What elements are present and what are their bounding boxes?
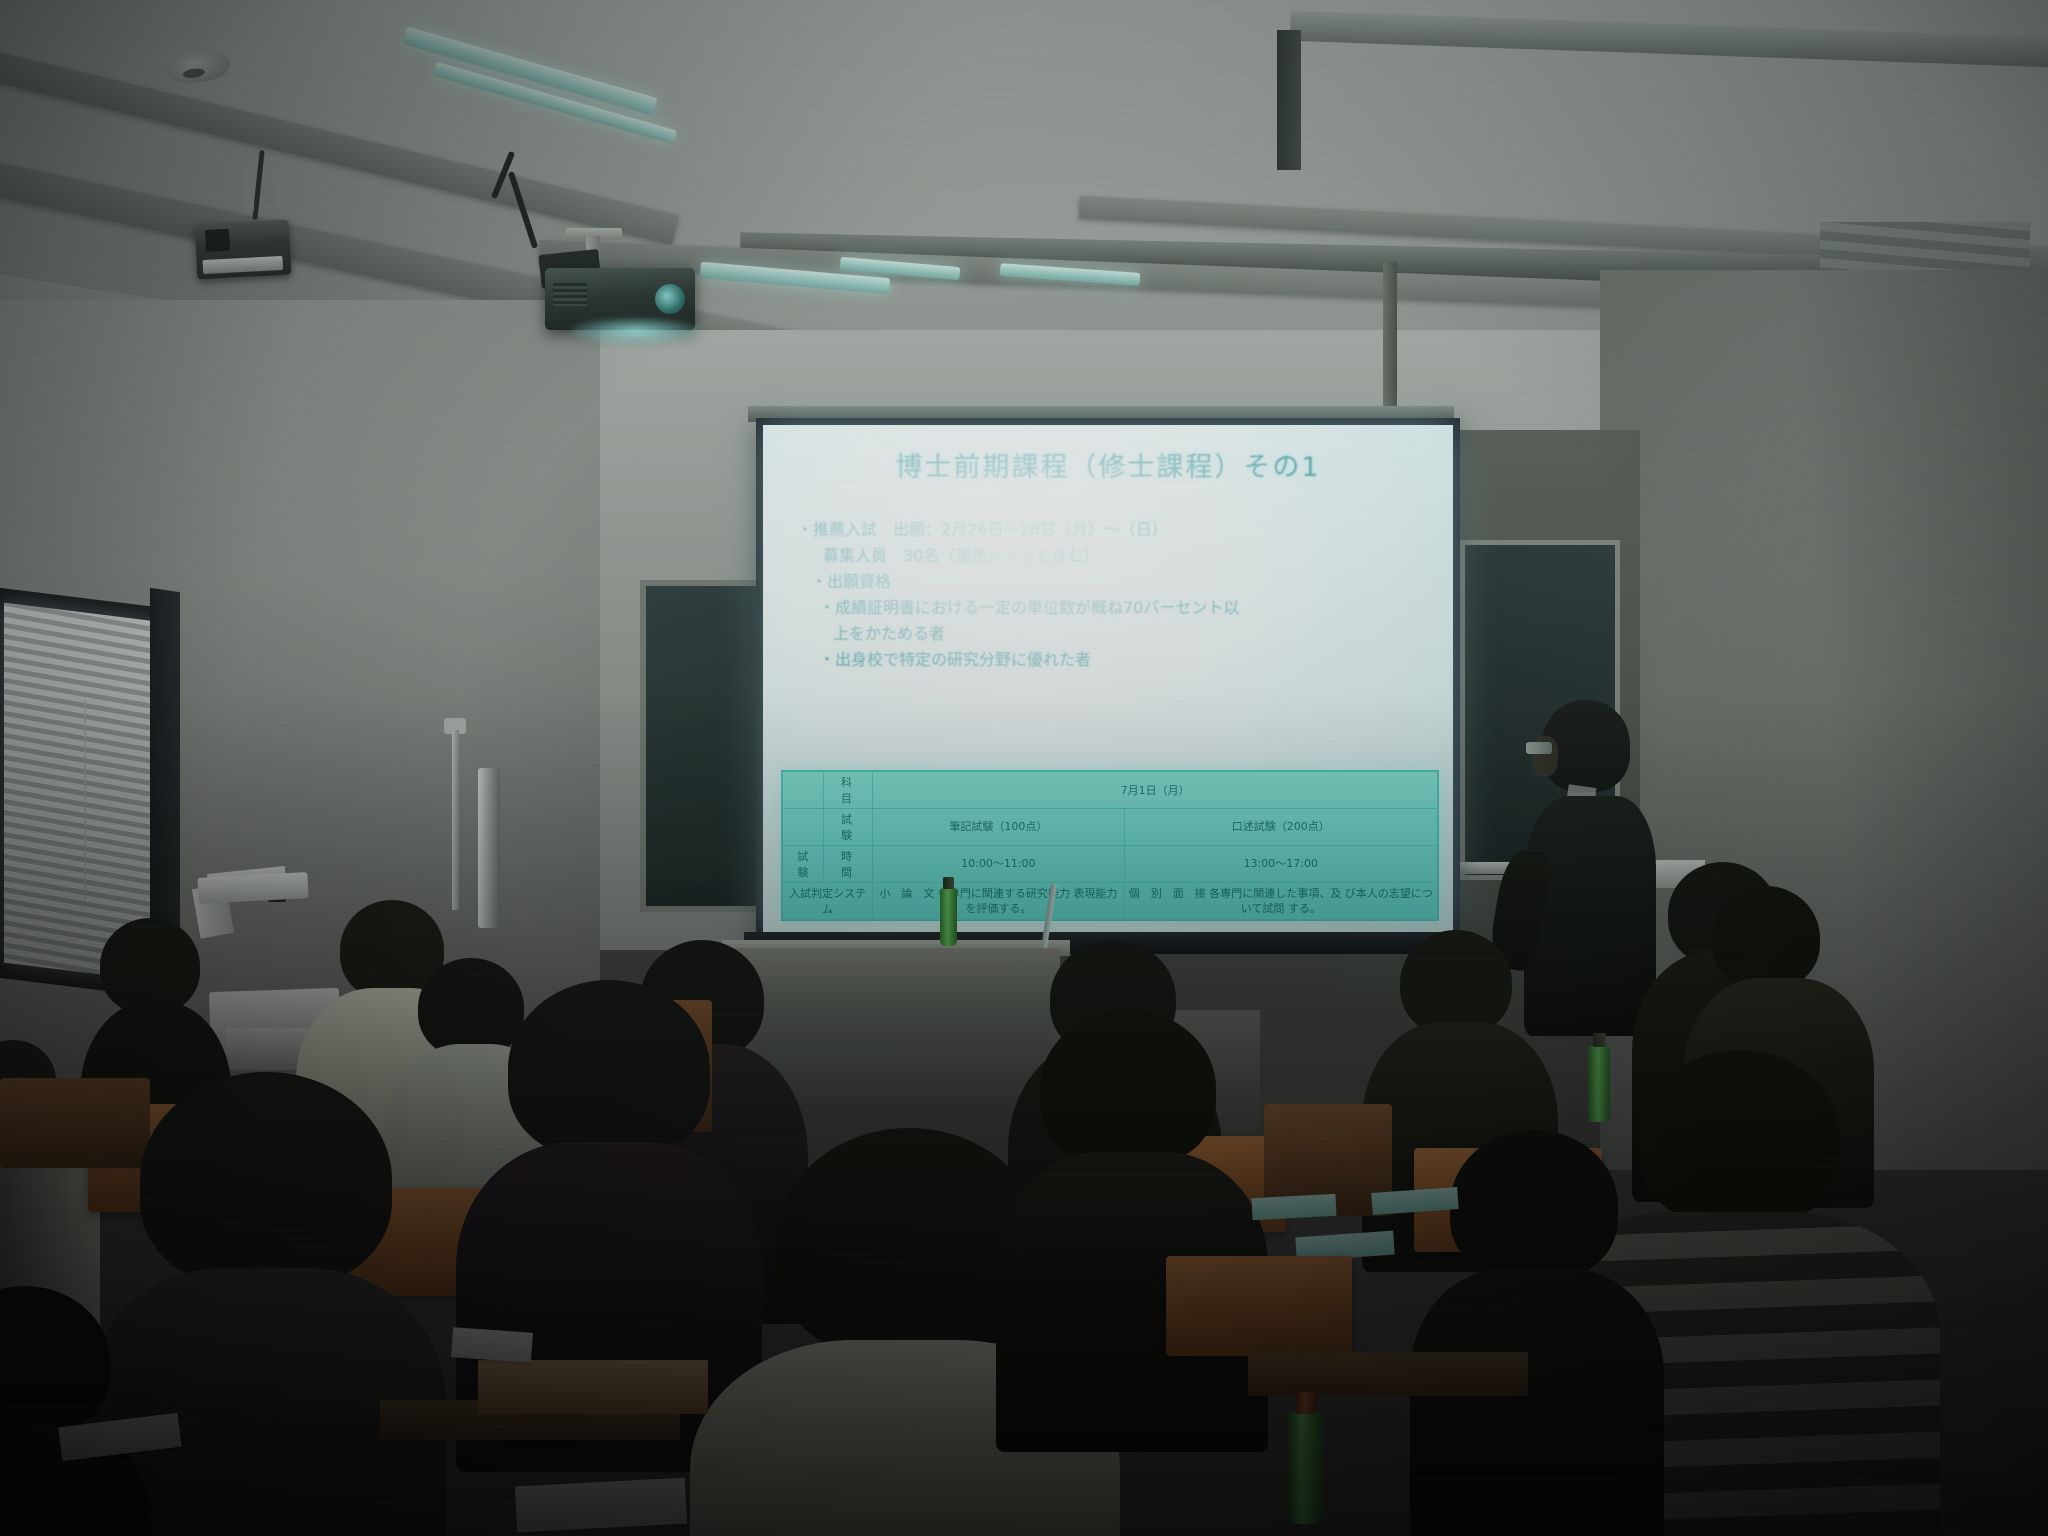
lecture-chair[interactable] [0,1078,150,1168]
projector-lens-icon [655,284,685,314]
slide-bullet-line: ・成績証明書における一定の単位数が概ね70パーセント以 [797,595,1431,621]
handout-paper[interactable] [451,1327,533,1363]
lecture-desk[interactable] [1248,1352,1528,1396]
slide-bullet-line: ・推薦入試 出願：2月26日～28日（月）～（日） [797,517,1431,543]
stand-pole [478,768,500,928]
drink-bottle[interactable] [940,888,957,946]
bottle-cap [943,877,954,889]
audience-head [1712,886,1820,990]
audience-head [1640,1050,1840,1226]
stand-pole [452,730,459,910]
table-cell-written-time: 10:00～11:00 [873,846,1124,883]
table-row-header: 試 験 [823,809,872,846]
table-cell-oral-time: 13:00～17:00 [1124,846,1437,883]
audience-head [418,958,524,1058]
table-row-header: 科 目 [823,772,872,809]
presenter-torso [1524,796,1656,1036]
table-date-note: 7月1日（月） [873,772,1438,809]
slide-bullet-line: 上をかためる者 [797,621,1431,647]
table-blank-cell [783,809,824,846]
slide-body: ・推薦入試 出願：2月26日～28日（月）～（日） 募集人員 30名（連携大学院… [797,517,1431,672]
audience-torso [1410,1268,1664,1536]
slide-bullet-line: 募集人員 30名（連携大学院を含む） [797,543,1431,569]
drink-bottle[interactable] [1588,1046,1610,1122]
projector-mount [245,155,254,210]
table-cell-essay-desc: 小 論 文 各専門に関連する研究能力 表現能力を評価する。 [873,883,1124,920]
slide-table: 科 目 7月1日（月） 試 験 筆記試験（100点） 口述試験（200点） 試 … [782,771,1438,920]
table-row: 試 験 筆記試験（100点） 口述試験（200点） [783,809,1438,846]
slide-bullet-line: ・出願資格 [797,569,1431,595]
table-cell-written-exam: 筆記試験（100点） [873,809,1124,846]
table-row-label-system: 入試判定システム [783,883,873,920]
audience-head [100,918,200,1014]
table-row-header: 時 間 [823,846,872,883]
slide-bullet-line: ・出身校で特定の研究分野に優れた者 [797,647,1431,673]
bottle-cap [1593,1033,1606,1047]
projection-screen: 博士前期課程（修士課程）その1 ・推薦入試 出願：2月26日～28日（月）～（日… [756,418,1460,942]
lecture-desk[interactable] [478,1360,708,1414]
handout-paper-teal[interactable] [1251,1194,1336,1220]
table-cell-interview-desc: 個 別 面 接 各専門に関連した事項、及 び本人の志望について試問 する。 [1124,883,1437,920]
table-row: 入試判定システム 小 論 文 各専門に関連する研究能力 表現能力を評価する。 個… [783,883,1438,920]
projector-mount [276,158,284,208]
table-row-label-exam: 試 験 [783,846,824,883]
table-row: 科 目 7月1日（月） [783,772,1438,809]
lecture-hall-photo: 博士前期課程（修士課程）その1 ・推薦入試 出願：2月26日～28日（月）～（日… [0,0,2048,1536]
slide-table-container: 科 目 7月1日（月） 試 験 筆記試験（100点） 口述試験（200点） 試 … [781,770,1439,921]
projector-secondary-icon [195,220,292,280]
audience-head [1040,1010,1216,1166]
glasses-icon [1526,742,1552,754]
blackboard-left-surface [646,586,746,886]
handout-paper[interactable] [515,1478,687,1533]
slide-title: 博士前期課程（修士課程）その1 [763,445,1453,484]
table-cell-oral-exam: 口述試験（200点） [1124,809,1437,846]
audience-head [1450,1130,1618,1280]
table-corner-cell [783,772,824,809]
table-row: 試 験 時 間 10:00～11:00 13:00～17:00 [783,846,1438,883]
audience-head [1400,930,1512,1036]
audience-head [508,980,710,1158]
slide-surface: 博士前期課程（修士課程）その1 ・推薦入試 出願：2月26日～28日（月）～（日… [763,425,1453,935]
lecture-chair[interactable] [1166,1256,1352,1356]
audience-head [140,1072,392,1288]
drink-bottle[interactable] [1288,1412,1322,1524]
bottle-cap [1296,1392,1316,1414]
